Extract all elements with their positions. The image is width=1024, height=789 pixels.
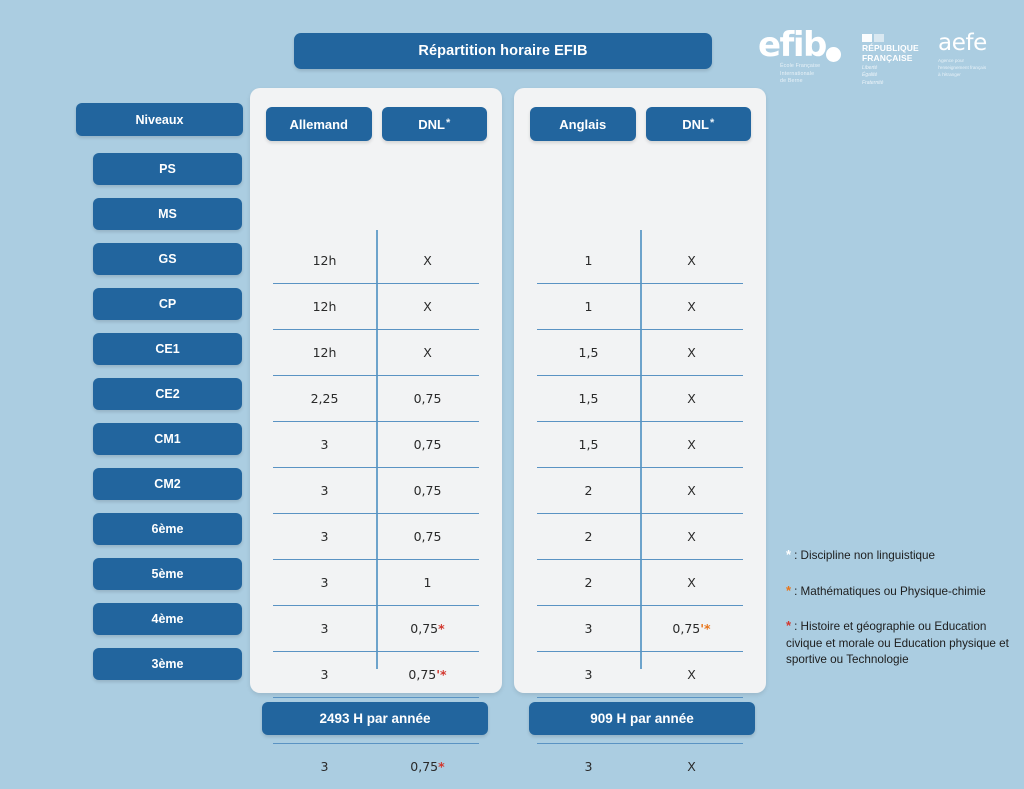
table-row: 1,5X [537,330,743,376]
level-pill-label: CM1 [154,432,180,446]
cell-language-hours: 1 [537,253,640,268]
cell-dnl-hours: X [640,575,743,590]
level-pill-label: GS [158,252,176,266]
column-header-allemand-dnl[interactable]: DNL* [382,107,488,141]
efib-logo-subtitle: École Française Internationale de Berne [780,63,844,86]
cell-dnl-hours: X [640,253,743,268]
cell-language-hours: 2 [537,529,640,544]
cell-language-hours: 3 [273,483,376,498]
cell-dnl-hours: X [640,667,743,682]
cell-dnl-hours: X [376,345,479,360]
table-row: 30,75 [273,468,479,514]
rf-motto: Liberté Égalité Fraternité [862,65,920,87]
cell-dnl-value: X [687,575,696,590]
cell-dnl-hours: X [376,299,479,314]
cell-dnl-value: 0,75 [414,391,442,406]
legend-asterisk-icon: * [786,547,791,562]
cell-dnl-hours: X [640,483,743,498]
cell-language-hours: 2 [537,483,640,498]
column-header-anglais-dnl-label: DNL [682,117,709,132]
table-row: 30,75* [273,606,479,652]
level-pill-label: CE2 [155,387,179,401]
dnl-asterisk-icon: '* [436,667,446,682]
level-pill-cp[interactable]: CP [93,288,242,320]
anglais-total-pill: 909 H par année [529,702,755,735]
allemand-table-header-row: Allemand DNL* [266,107,487,141]
table-row: 3X [537,744,743,789]
cell-dnl-hours: X [640,759,743,774]
table-row: 12hX [273,330,479,376]
cell-dnl-hours: 0,75'* [376,667,479,682]
legend: *: Discipline non linguistique*: Mathéma… [786,546,1018,669]
cell-language-hours: 3 [273,437,376,452]
table-row: 1,5X [537,376,743,422]
cell-dnl-hours: 1 [376,575,479,590]
table-row: 30,75* [273,744,479,789]
cell-language-hours: 3 [273,667,376,682]
cell-dnl-hours: 0,75 [376,437,479,452]
cell-language-hours: 2,25 [273,391,376,406]
level-pill-3me[interactable]: 3ème [93,648,242,680]
level-pill-label: MS [158,207,177,221]
aefe-wordmark: aefe [938,32,1012,55]
efib-dot-icon [826,47,841,62]
cell-language-hours: 3 [537,621,640,636]
legend-item-label: : Histoire et géographie ou Education ci… [786,620,1009,666]
cell-language-hours: 12h [273,253,376,268]
cell-language-hours: 1,5 [537,391,640,406]
cell-dnl-hours: 0,75 [376,529,479,544]
cell-language-hours: 1,5 [537,437,640,452]
levels-header-label: Niveaux [136,113,184,127]
cell-dnl-value: X [687,759,696,774]
legend-item-2: *: Mathématiques ou Physique-chimie [786,582,1018,601]
cell-dnl-hours: X [640,391,743,406]
dnl-asterisk-icon: * [438,759,445,774]
level-pill-5me[interactable]: 5ème [93,558,242,590]
cell-dnl-value: X [687,391,696,406]
cell-language-hours: 3 [273,529,376,544]
table-row: 3X [537,652,743,698]
column-header-anglais-dnl[interactable]: DNL* [646,107,752,141]
cell-language-hours: 3 [273,575,376,590]
legend-asterisk-icon: * [786,583,791,598]
cell-language-hours: 12h [273,345,376,360]
cell-dnl-hours: X [640,529,743,544]
level-pill-ce1[interactable]: CE1 [93,333,242,365]
cell-dnl-value: 0,75 [414,483,442,498]
table-row: 31 [273,560,479,606]
table-row: 2X [537,560,743,606]
legend-item-3: *: Histoire et géographie ou Education c… [786,617,1018,669]
cell-dnl-value: X [687,667,696,682]
cell-language-hours: 1 [537,299,640,314]
republique-francaise-logo: RÉPUBLIQUE FRANÇAISE Liberté Égalité Fra… [862,30,920,87]
cell-dnl-value: X [687,437,696,452]
dnl-header-asterisk-icon: * [446,117,450,129]
cell-dnl-hours: X [640,345,743,360]
table-row: 1X [537,238,743,284]
cell-dnl-hours: X [640,437,743,452]
aefe-logo-subtitle: Agence pour l'enseignement français à l'… [938,58,1012,79]
cell-dnl-value: X [423,345,432,360]
level-pill-ms[interactable]: MS [93,198,242,230]
level-pill-cm2[interactable]: CM2 [93,468,242,500]
page-title: Répartition horaire EFIB [418,43,587,59]
column-header-allemand-label: Allemand [289,117,348,132]
aefe-logo: aefe Agence pour l'enseignement français… [938,30,1012,79]
cell-language-hours: 1,5 [537,345,640,360]
levels-column-header: Niveaux [76,103,243,136]
column-header-anglais-label: Anglais [559,117,606,132]
cell-dnl-value: 1 [424,575,432,590]
legend-item-label: : Discipline non linguistique [794,549,935,562]
level-pill-gs[interactable]: GS [93,243,242,275]
cell-dnl-hours: 0,75 [376,483,479,498]
cell-language-hours: 3 [537,759,640,774]
legend-asterisk-icon: * [786,618,791,633]
logo-group: efib École Française Internationale de B… [758,30,1012,92]
cell-dnl-value: X [687,483,696,498]
cell-dnl-value: 0,75 [408,667,436,682]
level-pill-cm1[interactable]: CM1 [93,423,242,455]
cell-language-hours: 3 [273,621,376,636]
cell-dnl-value: 0,75 [672,621,700,636]
dnl-asterisk-icon: * [438,621,445,636]
cell-dnl-value: X [687,529,696,544]
table-row: 1X [537,284,743,330]
column-header-anglais[interactable]: Anglais [530,107,636,141]
level-pill-label: 6ème [152,522,184,536]
level-pill-label: CM2 [154,477,180,491]
cell-dnl-hours: 0,75* [376,621,479,636]
efib-logo: efib École Française Internationale de B… [758,30,844,86]
cell-language-hours: 2 [537,575,640,590]
legend-item-1: *: Discipline non linguistique [786,546,1018,565]
cell-language-hours: 12h [273,299,376,314]
cell-dnl-value: 0,75 [410,621,438,636]
anglais-total-label: 909 H par année [590,711,694,726]
dnl-asterisk-icon: '* [700,621,710,636]
level-pill-ps[interactable]: PS [93,153,242,185]
cell-dnl-hours: 0,75'* [640,621,743,636]
table-row: 1,5X [537,422,743,468]
cell-dnl-hours: X [376,253,479,268]
table-row: 2X [537,468,743,514]
level-pill-label: CP [159,297,176,311]
level-pill-label: 3ème [152,657,184,671]
allemand-total-label: 2493 H par année [319,711,430,726]
cell-dnl-value: 0,75 [414,529,442,544]
cell-dnl-value: X [687,345,696,360]
table-row: 12hX [273,238,479,284]
column-header-allemand-dnl-label: DNL [418,117,445,132]
table-row: 30,75 [273,422,479,468]
level-pill-label: 4ème [152,612,184,626]
level-pill-4me[interactable]: 4ème [93,603,242,635]
table-row: 2,250,75 [273,376,479,422]
allemand-table-card: Allemand DNL* 12hX12hX12hX2,250,7530,753… [250,88,502,693]
cell-dnl-value: X [687,253,696,268]
level-pill-label: PS [159,162,176,176]
table-row: 12hX [273,284,479,330]
level-pill-label: 5ème [152,567,184,581]
cell-dnl-value: X [423,253,432,268]
rf-line-2: FRANÇAISE [862,54,920,64]
legend-item-label: : Mathématiques ou Physique-chimie [794,585,986,598]
cell-dnl-hours: X [640,299,743,314]
french-flag-icon [862,34,920,42]
table-row: 30,75'* [273,652,479,698]
dnl-header-asterisk-icon: * [710,117,714,129]
anglais-table-header-row: Anglais DNL* [530,107,751,141]
cell-language-hours: 3 [273,759,376,774]
cell-dnl-hours: 0,75* [376,759,479,774]
cell-dnl-hours: 0,75 [376,391,479,406]
level-pill-label: CE1 [155,342,179,356]
allemand-total-pill: 2493 H par année [262,702,488,735]
anglais-table-card: Anglais DNL* 1X1X1,5X1,5X1,5X2X2X2X30,75… [514,88,766,693]
cell-language-hours: 3 [537,667,640,682]
table-row: 2X [537,514,743,560]
column-header-allemand[interactable]: Allemand [266,107,372,141]
cell-dnl-value: X [687,299,696,314]
table-row: 30,75 [273,514,479,560]
table-row: 30,75'* [537,606,743,652]
page-title-banner: Répartition horaire EFIB [294,33,712,69]
level-pill-6me[interactable]: 6ème [93,513,242,545]
level-pill-ce2[interactable]: CE2 [93,378,242,410]
cell-dnl-value: X [423,299,432,314]
cell-dnl-value: 0,75 [410,759,438,774]
cell-dnl-value: 0,75 [414,437,442,452]
